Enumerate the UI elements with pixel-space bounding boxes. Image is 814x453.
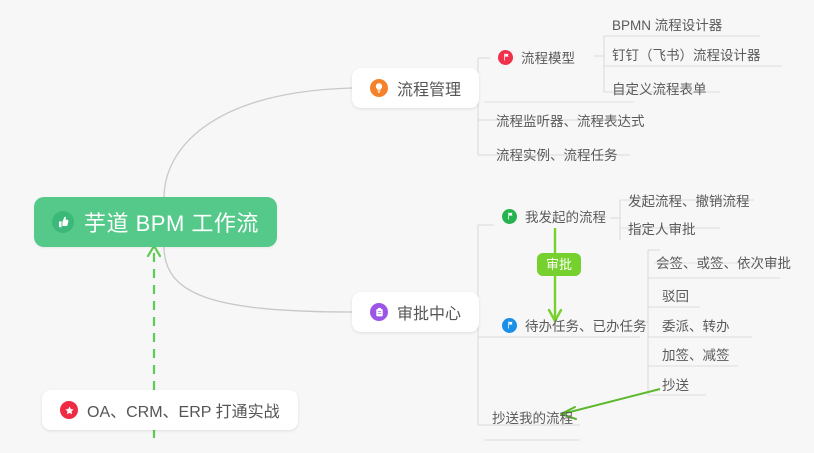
- node-reject[interactable]: 驳回: [654, 282, 697, 310]
- flag-icon: [502, 318, 517, 333]
- flag-icon: [502, 209, 517, 224]
- node-bpmn-designer[interactable]: BPMN 流程设计器: [604, 11, 730, 39]
- node-process-model[interactable]: 流程模型: [490, 44, 583, 72]
- node-label: 待办任务、已办任务: [525, 315, 647, 335]
- node-cc-to-me[interactable]: 抄送我的流程: [484, 404, 581, 432]
- branch-label: 审批中心: [397, 300, 461, 324]
- lightbulb-icon: [370, 79, 388, 97]
- clipboard-icon: [370, 303, 388, 321]
- node-start-cancel-process[interactable]: 发起流程、撤销流程: [620, 187, 758, 215]
- node-my-started-processes[interactable]: 我发起的流程: [494, 203, 614, 231]
- node-process-instance[interactable]: 流程实例、流程任务: [488, 141, 626, 169]
- flag-icon: [498, 50, 513, 65]
- node-delegate-transfer[interactable]: 委派、转办: [654, 312, 738, 340]
- root-label: 芋道 BPM 工作流: [84, 206, 259, 238]
- node-cc[interactable]: 抄送: [654, 371, 697, 399]
- branch-node-approval-center[interactable]: 审批中心: [352, 292, 479, 332]
- mindmap-canvas: 芋道 BPM 工作流 流程管理 流程模型 BPMN 流程设计器 钉钉（飞书）流程…: [0, 0, 814, 453]
- node-todo-done-tasks[interactable]: 待办任务、已办任务: [494, 312, 655, 340]
- node-countersign[interactable]: 会签、或签、依次审批: [648, 249, 799, 277]
- node-assigned-approval[interactable]: 指定人审批: [620, 215, 704, 243]
- approve-badge: 审批: [537, 253, 581, 276]
- branch-label: 流程管理: [397, 76, 461, 100]
- branch-node-process-management[interactable]: 流程管理: [352, 68, 479, 108]
- node-custom-form[interactable]: 自定义流程表单: [604, 75, 715, 103]
- star-icon: [60, 401, 78, 419]
- root-node[interactable]: 芋道 BPM 工作流: [34, 197, 277, 247]
- bottom-callout-label: OA、CRM、ERP 打通实战: [87, 398, 280, 422]
- node-process-listener[interactable]: 流程监听器、流程表达式: [488, 107, 653, 135]
- thumbs-up-icon: [52, 211, 74, 233]
- node-label: 我发起的流程: [525, 206, 606, 226]
- bottom-callout-card[interactable]: OA、CRM、ERP 打通实战: [42, 390, 298, 430]
- node-dingtalk-designer[interactable]: 钉钉（飞书）流程设计器: [604, 41, 769, 69]
- node-label: 流程模型: [521, 47, 575, 67]
- node-add-remove-sign[interactable]: 加签、减签: [654, 341, 738, 369]
